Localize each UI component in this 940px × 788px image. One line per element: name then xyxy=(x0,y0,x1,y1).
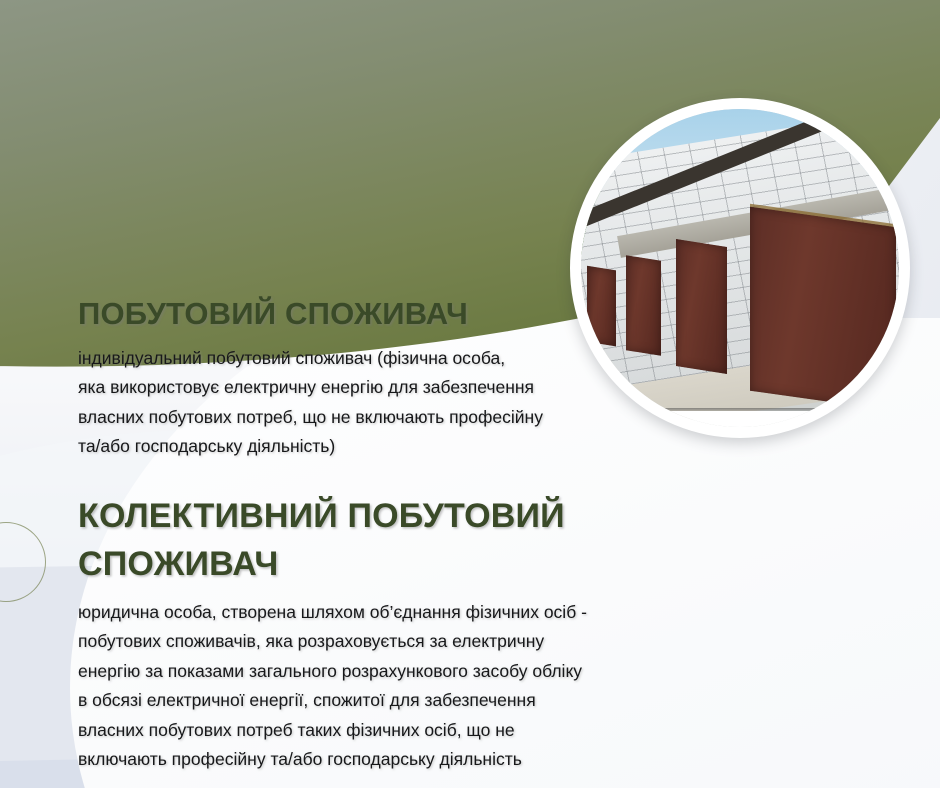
page-title-household-consumer: ПОБУТОВИЙ СПОЖИВАЧ xyxy=(78,296,718,332)
text-line: в обсязі електричної енергії, спожитої д… xyxy=(78,686,718,715)
garage-door xyxy=(750,207,896,412)
paragraph-household-consumer: індивідуальний побутовий споживач (фізич… xyxy=(78,344,718,462)
paragraph-collective-household-consumer: юридична особа, створена шляхом об’єднан… xyxy=(78,598,718,774)
page-title-collective-household-consumer: КОЛЕКТИВНИЙ ПОБУТОВИЙ СПОЖИВАЧ xyxy=(78,492,718,589)
text-line: побутових споживачів, яка розраховується… xyxy=(78,627,718,656)
slide-canvas: ПОБУТОВИЙ СПОЖИВАЧ індивідуальний побуто… xyxy=(0,0,940,788)
text-line: юридична особа, створена шляхом об’єднан… xyxy=(78,598,718,627)
text-line: індивідуальний побутовий споживач (фізич… xyxy=(78,344,718,373)
text-line: енергію за показами загального розрахунк… xyxy=(78,657,718,686)
text-line: включають професійну та/або господарську… xyxy=(78,745,718,774)
text-line: власних побутових потреб таких фізичних … xyxy=(78,716,718,745)
text-line: власних побутових потреб, що не включают… xyxy=(78,403,718,432)
text-line: яка використовує електричну енергію для … xyxy=(78,373,718,402)
slide-content: ПОБУТОВИЙ СПОЖИВАЧ індивідуальний побуто… xyxy=(78,296,718,774)
text-line: та/або господарську діяльність) xyxy=(78,432,718,461)
